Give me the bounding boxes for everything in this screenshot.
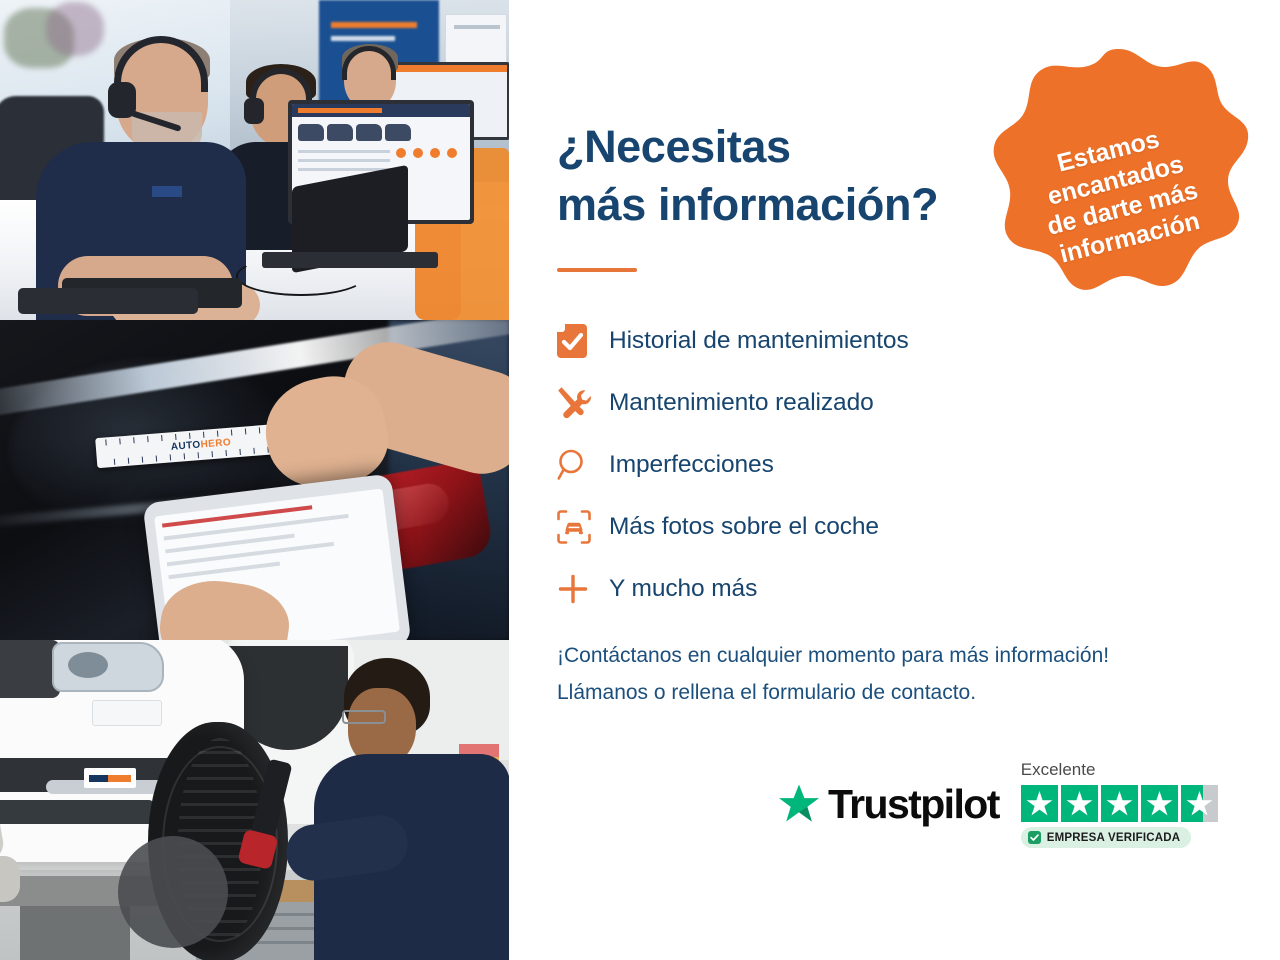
- uniform-logo: [84, 768, 136, 788]
- star-1: [1021, 785, 1058, 822]
- contact-text: ¡Contáctanos en cualquier momento para m…: [557, 638, 1237, 712]
- feature-list: Historial de mantenimientos Mantenimient…: [557, 310, 1077, 620]
- star-4: [1141, 785, 1178, 822]
- verified-company-badge: EMPRESA VERIFICADA: [1021, 827, 1192, 848]
- headlight: [52, 642, 164, 692]
- feature-item-mantenimiento: Mantenimiento realizado: [557, 372, 1077, 434]
- contact-line-2: Llámanos o rellena el formulario de cont…: [557, 681, 976, 704]
- title-line-2: más información?: [557, 179, 938, 230]
- verified-check-icon: [1028, 831, 1041, 844]
- content-panel: ¿Necesitasmás información? Historial de …: [509, 0, 1280, 960]
- title-line-1: ¿Necesitas: [557, 121, 791, 172]
- document-check-icon: [557, 324, 609, 358]
- title-divider: [557, 268, 637, 272]
- license-plate-area: [92, 700, 162, 726]
- badge-text: Estamos encantados de darte más informac…: [1030, 119, 1208, 271]
- promo-badge: Estamos encantados de darte más informac…: [988, 45, 1250, 325]
- notebook-on-desk: [18, 288, 198, 314]
- trustpilot-star-icon: [777, 783, 821, 825]
- star-5-partial: [1181, 785, 1218, 822]
- rating-label: Excelente: [1021, 760, 1218, 780]
- feature-item-imperfecciones: Imperfecciones: [557, 434, 1077, 496]
- brand-suffix: HERO: [200, 437, 231, 450]
- mechanic-wheel-photo: [0, 640, 509, 960]
- feature-label: Imperfecciones: [609, 451, 774, 479]
- call-center-agents-photo: [0, 0, 509, 320]
- star-3: [1101, 785, 1138, 822]
- magnifier-icon: [557, 448, 609, 482]
- trustpilot-wordmark: Trustpilot: [828, 781, 999, 828]
- trustpilot-logo: Trustpilot: [777, 781, 999, 828]
- feature-item-mucho-mas: Y mucho más: [557, 558, 1077, 620]
- autohero-logo: AUTOHERO: [171, 437, 232, 453]
- feature-label: Historial de mantenimientos: [609, 327, 909, 355]
- car-viewfinder-icon: [557, 510, 609, 544]
- star-rating: [1021, 785, 1218, 822]
- page-title: ¿Necesitasmás información?: [557, 118, 987, 233]
- promo-banner: AUTOHERO: [0, 0, 1280, 960]
- mechanic: [326, 658, 509, 960]
- feature-label: Mantenimiento realizado: [609, 389, 874, 417]
- car-inspection-ruler-photo: AUTOHERO: [0, 320, 509, 640]
- polo-logo: [152, 186, 182, 197]
- feature-label: Y mucho más: [609, 575, 757, 603]
- contact-line-1: ¡Contáctanos en cualquier momento para m…: [557, 644, 1109, 667]
- trustpilot-rating: Excelente: [1021, 760, 1218, 848]
- brand-prefix: AUTO: [171, 440, 202, 453]
- feature-item-fotos: Más fotos sobre el coche: [557, 496, 1077, 558]
- photo-strip: AUTOHERO: [0, 0, 509, 960]
- verified-label: EMPRESA VERIFICADA: [1047, 832, 1181, 844]
- plus-icon: [557, 573, 609, 605]
- glasses: [342, 710, 386, 724]
- trustpilot-widget[interactable]: Trustpilot Excelente: [777, 760, 1218, 848]
- cable: [236, 256, 366, 296]
- feature-label: Más fotos sobre el coche: [609, 513, 879, 541]
- star-2: [1061, 785, 1098, 822]
- tools-wrench-screwdriver-icon: [557, 386, 609, 420]
